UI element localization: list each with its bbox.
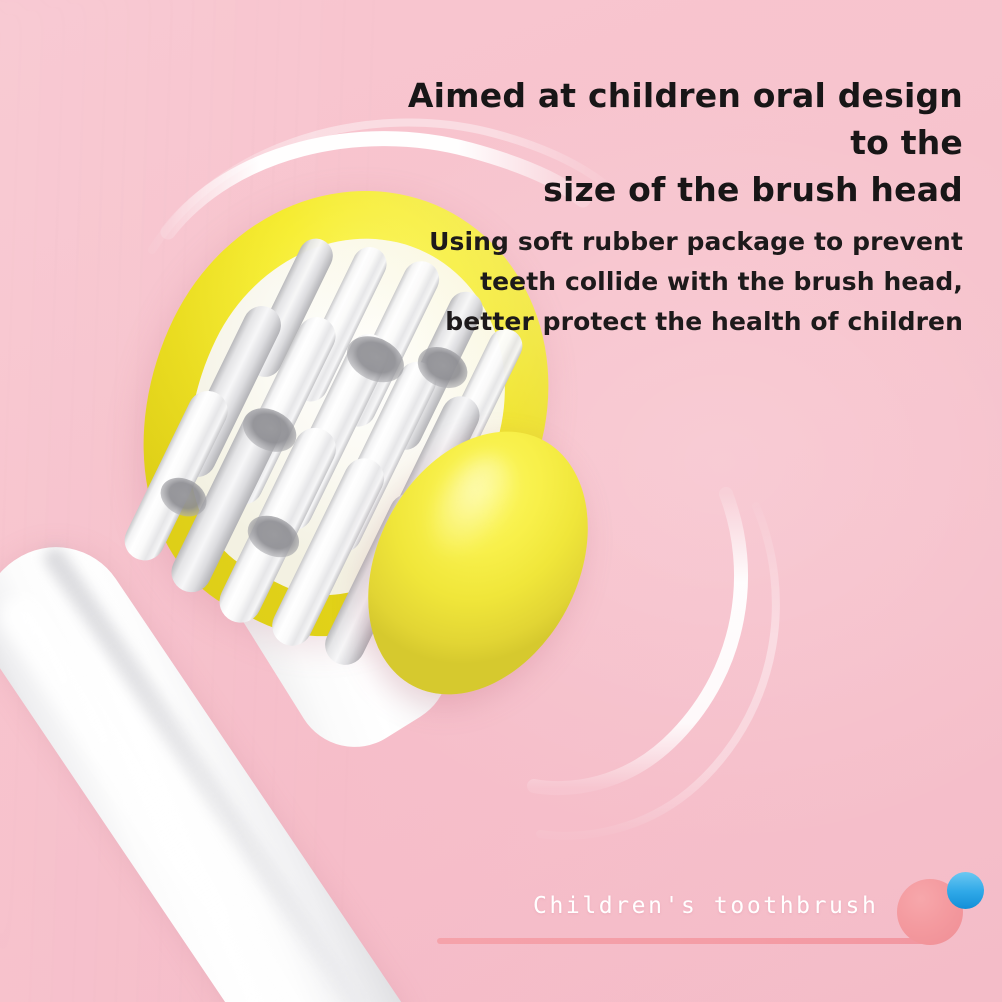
cap-highlight: [414, 441, 532, 577]
footer-brand-label: Children's toothbrush: [533, 893, 878, 919]
body-copy: Using soft rubber package to prevent tee…: [403, 222, 963, 342]
headline-line-2: size of the brush head: [363, 166, 963, 213]
footer-divider-line: [437, 938, 937, 944]
decor-circle-blue: [947, 872, 984, 909]
headline-line-1: Aimed at children oral design to the: [363, 72, 963, 166]
product-promo-image: Aimed at children oral design to the siz…: [0, 0, 1002, 1002]
body-line-3: better protect the health of children: [403, 302, 963, 342]
body-line-2: teeth collide with the brush head,: [403, 262, 963, 302]
headline: Aimed at children oral design to the siz…: [363, 72, 963, 213]
body-line-1: Using soft rubber package to prevent: [403, 222, 963, 262]
